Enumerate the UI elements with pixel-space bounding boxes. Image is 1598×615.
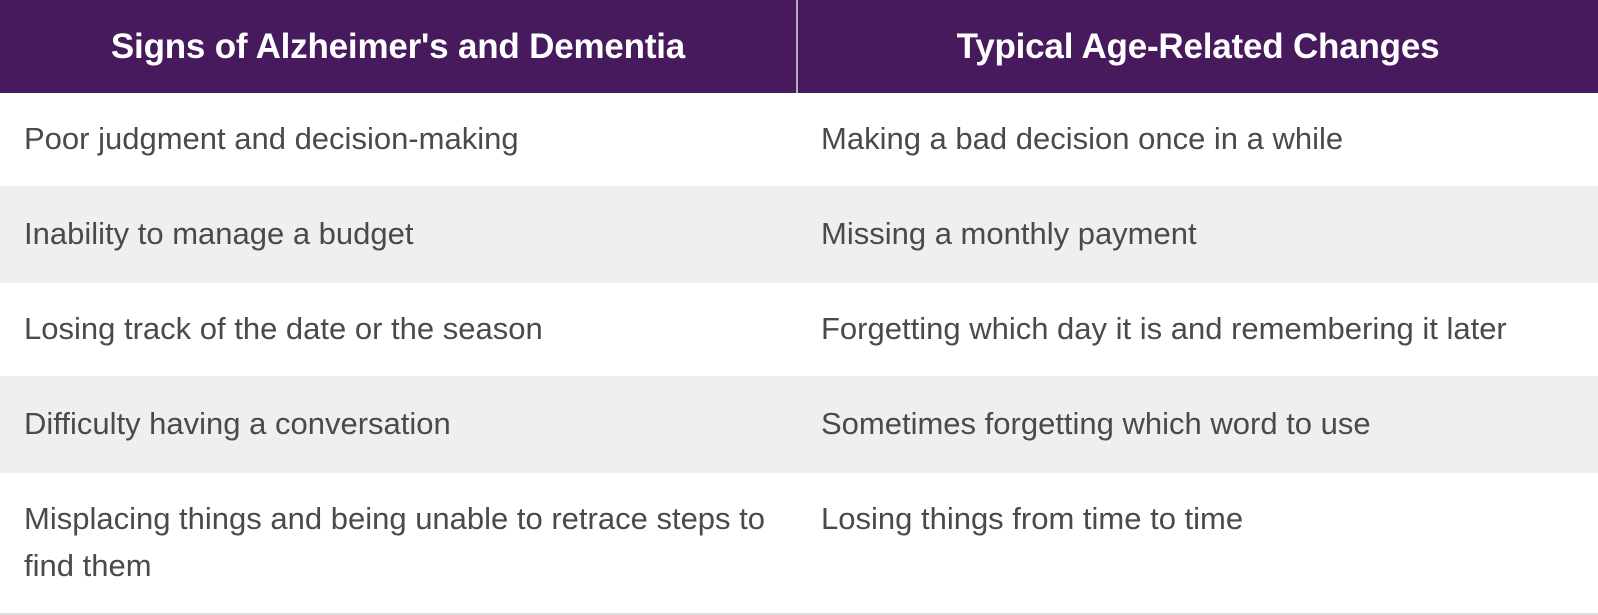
alzheimers-comparison-table: Signs of Alzheimer's and Dementia Typica… [0, 0, 1598, 615]
cell-typical: Making a bad decision once in a while [797, 93, 1598, 187]
column-header-typical: Typical Age-Related Changes [797, 0, 1598, 93]
cell-text: Making a bad decision once in a while [821, 115, 1574, 162]
cell-text: Misplacing things and being unable to re… [24, 495, 773, 589]
cell-signs: Poor judgment and decision-making [0, 93, 797, 187]
cell-typical: Sometimes forgetting which word to use [797, 377, 1598, 472]
cell-text: Inability to manage a budget [24, 210, 773, 257]
cell-text: Losing track of the date or the season [24, 305, 773, 352]
column-header-signs: Signs of Alzheimer's and Dementia [0, 0, 797, 93]
cell-signs: Losing track of the date or the season [0, 282, 797, 377]
table-header: Signs of Alzheimer's and Dementia Typica… [0, 0, 1598, 93]
cell-text: Sometimes forgetting which word to use [821, 400, 1574, 447]
table-row: Difficulty having a conversation Sometim… [0, 377, 1598, 472]
cell-text: Poor judgment and decision-making [24, 115, 773, 162]
table-row: Inability to manage a budget Missing a m… [0, 187, 1598, 282]
table-header-row: Signs of Alzheimer's and Dementia Typica… [0, 0, 1598, 93]
cell-text: Losing things from time to time [821, 495, 1574, 542]
table-row: Misplacing things and being unable to re… [0, 472, 1598, 614]
table-body: Poor judgment and decision-making Making… [0, 93, 1598, 614]
table-row: Poor judgment and decision-making Making… [0, 93, 1598, 187]
cell-text: Forgetting which day it is and rememberi… [821, 305, 1574, 352]
cell-text: Difficulty having a conversation [24, 400, 773, 447]
cell-signs: Inability to manage a budget [0, 187, 797, 282]
cell-text: Missing a monthly payment [821, 210, 1574, 257]
cell-signs: Difficulty having a conversation [0, 377, 797, 472]
cell-typical: Missing a monthly payment [797, 187, 1598, 282]
cell-typical: Forgetting which day it is and rememberi… [797, 282, 1598, 377]
table-row: Losing track of the date or the season F… [0, 282, 1598, 377]
cell-signs: Misplacing things and being unable to re… [0, 472, 797, 614]
cell-typical: Losing things from time to time [797, 472, 1598, 614]
